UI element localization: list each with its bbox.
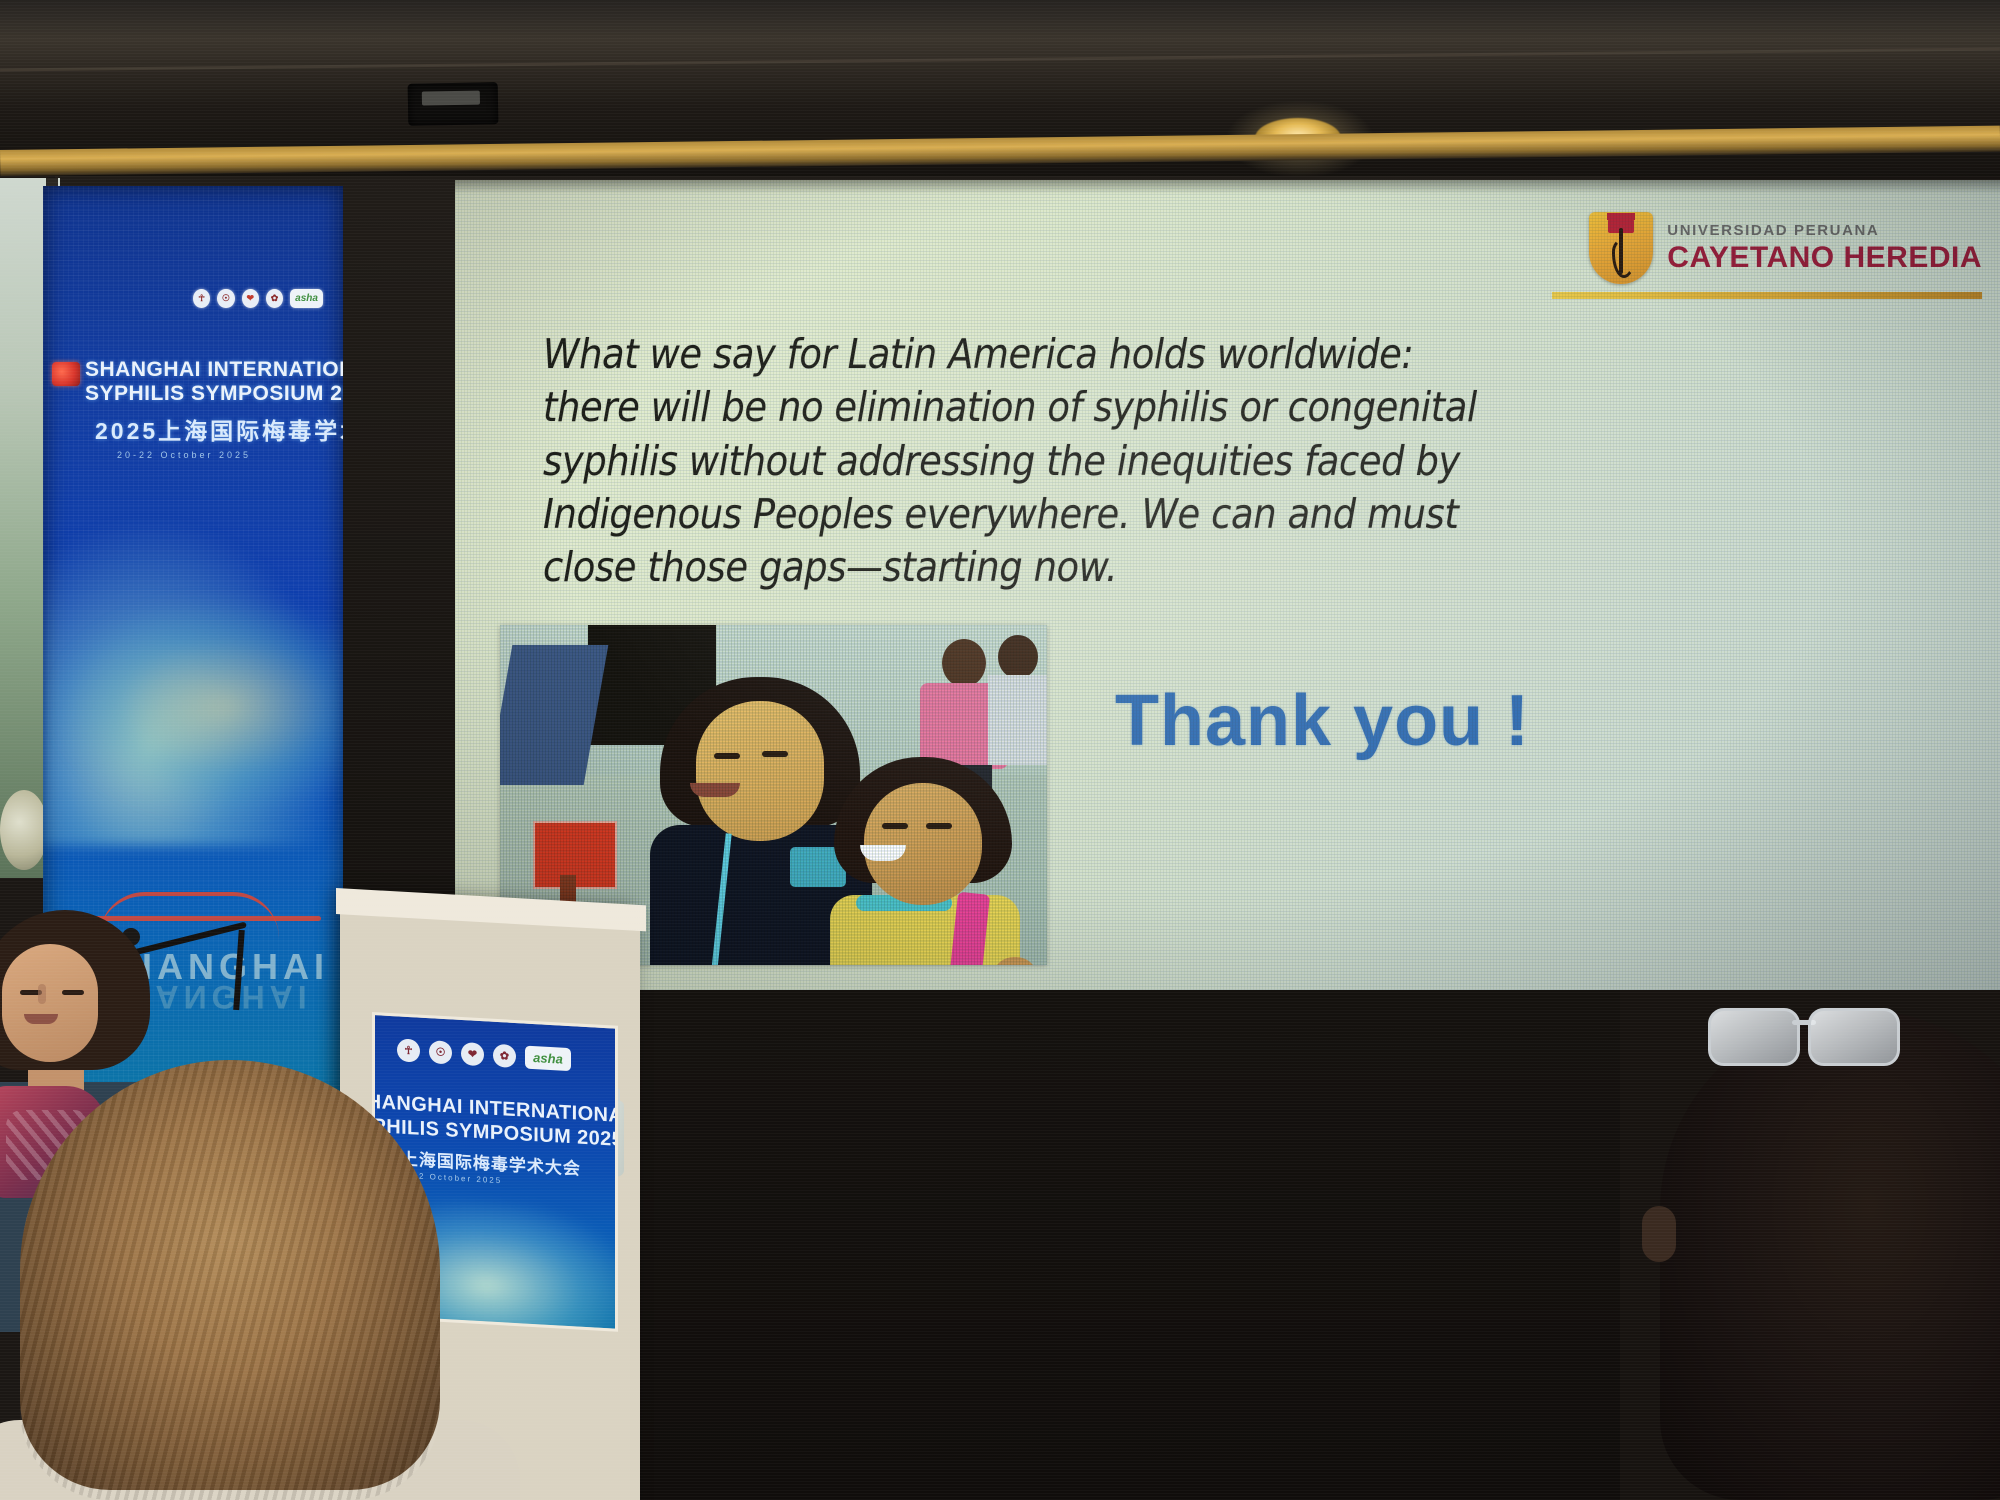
asha-logo: asha	[525, 1046, 571, 1072]
banner-date: 20-22 October 2025	[117, 450, 251, 460]
sunglasses-icon	[1708, 1000, 1894, 1066]
banner-logo-row: ☥ ☉ ❤ ✿ asha	[193, 286, 323, 310]
globe-icon: ☉	[217, 289, 234, 308]
banner-title: SHANGHAI INTERNATIONAL SYPHILIS SYMPOSIU…	[85, 358, 335, 406]
window-light-blob	[0, 790, 48, 870]
ribbon-icon: ✿	[493, 1044, 516, 1068]
banner-title-line2: SYPHILIS SYMPOSIUM 2025	[85, 382, 335, 406]
audience-head-right	[1660, 1010, 2000, 1500]
ribbon-icon: ✿	[266, 289, 283, 308]
projection-screen: UNIVERSIDAD PERUANA CAYETANO HEREDIA Wha…	[455, 180, 2000, 990]
asha-logo: asha	[290, 289, 323, 308]
heart-icon: ❤	[242, 289, 259, 308]
banner-title-line1: SHANGHAI INTERNATIONAL	[85, 358, 335, 382]
projector-mount-icon	[408, 82, 499, 126]
conference-room-scene: ☥ ☉ ❤ ✿ asha SHANGHAI INTERNATIONAL SYPH…	[0, 0, 2000, 1500]
heart-icon: ❤	[461, 1042, 484, 1066]
audience-head-foreground	[20, 1060, 440, 1500]
banner-title-chinese: 2025上海国际梅毒学术大会	[95, 412, 343, 446]
screen-top-shadow	[455, 180, 2000, 194]
screen-projection-texture	[455, 180, 2000, 990]
banner-skyline-glow-2	[53, 596, 343, 816]
society-icon: ☥	[193, 289, 210, 308]
shanghai-emblem-icon	[52, 362, 80, 386]
